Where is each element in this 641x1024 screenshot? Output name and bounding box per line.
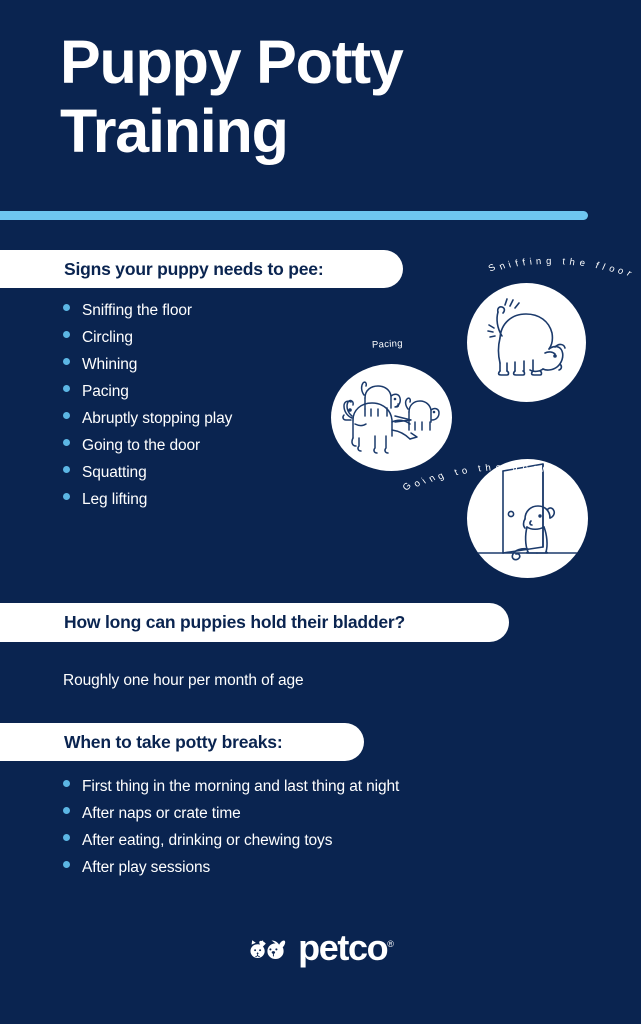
- list-item: Abruptly stopping play: [63, 411, 232, 427]
- bullet-dot-icon: [63, 304, 70, 311]
- page-title: Puppy Potty Training: [60, 28, 530, 166]
- list-item-label: Circling: [82, 330, 133, 346]
- list-item: Circling: [63, 330, 232, 346]
- petco-logo: petco®: [0, 930, 641, 966]
- list-item-label: Pacing: [82, 384, 129, 400]
- petco-wordmark: petco®: [298, 930, 394, 966]
- list-item-label: Leg lifting: [82, 492, 147, 508]
- list-item: After play sessions: [63, 860, 399, 876]
- list-item-label: Sniffing the floor: [82, 303, 192, 319]
- infographic-page: Puppy Potty Training Signs your puppy ne…: [0, 0, 641, 1024]
- bullet-dot-icon: [63, 412, 70, 419]
- bullet-dot-icon: [63, 861, 70, 868]
- list-item: After eating, drinking or chewing toys: [63, 833, 399, 849]
- bullet-dot-icon: [63, 439, 70, 446]
- section-heading-breaks: When to take potty breaks:: [0, 723, 364, 761]
- bullet-dot-icon: [63, 466, 70, 473]
- list-item: Pacing: [63, 384, 232, 400]
- section-heading-breaks-label: When to take potty breaks:: [0, 732, 282, 753]
- list-item-label: After naps or crate time: [82, 806, 241, 822]
- list-item-label: Going to the door: [82, 438, 200, 454]
- section-heading-bladder: How long can puppies hold their bladder?: [0, 603, 509, 642]
- illustration-going-to-the-door: [467, 459, 588, 578]
- list-item: Sniffing the floor: [63, 303, 232, 319]
- list-item: Leg lifting: [63, 492, 232, 508]
- illustration-caption-door: Going to the door: [451, 462, 530, 473]
- bullet-dot-icon: [63, 780, 70, 787]
- breaks-list: First thing in the morning and last thin…: [63, 779, 399, 887]
- bullet-dot-icon: [63, 358, 70, 365]
- list-item-label: Abruptly stopping play: [82, 411, 232, 427]
- registered-trademark-symbol: ®: [387, 939, 394, 949]
- illustration-sniffing-the-floor: [467, 283, 586, 402]
- petco-wordmark-text: petco: [298, 927, 387, 968]
- dog-at-door-icon: [467, 459, 588, 578]
- bullet-dot-icon: [63, 493, 70, 500]
- section-heading-bladder-label: How long can puppies hold their bladder?: [0, 612, 405, 633]
- signs-list: Sniffing the floor Circling Whining Paci…: [63, 303, 232, 519]
- accent-divider: [0, 211, 588, 220]
- illustration-caption-pacing-label: Pacing: [372, 338, 403, 351]
- list-item-label: Squatting: [82, 465, 147, 481]
- bullet-dot-icon: [63, 385, 70, 392]
- illustration-pacing: [331, 364, 452, 471]
- list-item: Going to the door: [63, 438, 232, 454]
- section-heading-signs: Signs your puppy needs to pee:: [0, 250, 403, 288]
- list-item: After naps or crate time: [63, 806, 399, 822]
- section-heading-signs-label: Signs your puppy needs to pee:: [0, 259, 323, 280]
- list-item-label: First thing in the morning and last thin…: [82, 779, 399, 795]
- dogs-pacing-icon: [331, 364, 452, 471]
- dog-sniffing-floor-icon: [467, 283, 586, 402]
- bullet-dot-icon: [63, 331, 70, 338]
- illustration-caption-pacing: Pacing: [372, 338, 403, 351]
- illustration-caption-sniffing-label: Sniffing the floor: [518, 256, 592, 267]
- bladder-answer-text: Roughly one hour per month of age: [63, 672, 304, 690]
- illustration-caption-door-label: Going to the door: [451, 462, 530, 473]
- list-item: First thing in the morning and last thin…: [63, 779, 399, 795]
- list-item: Whining: [63, 357, 232, 373]
- list-item-label: Whining: [82, 357, 137, 373]
- list-item-label: After play sessions: [82, 860, 210, 876]
- list-item-label: After eating, drinking or chewing toys: [82, 833, 332, 849]
- list-item: Squatting: [63, 465, 232, 481]
- petco-cat-dog-logo-icon: [247, 932, 289, 964]
- bullet-dot-icon: [63, 807, 70, 814]
- bullet-dot-icon: [63, 834, 70, 841]
- illustration-caption-sniffing: Sniffing the floor: [518, 256, 592, 267]
